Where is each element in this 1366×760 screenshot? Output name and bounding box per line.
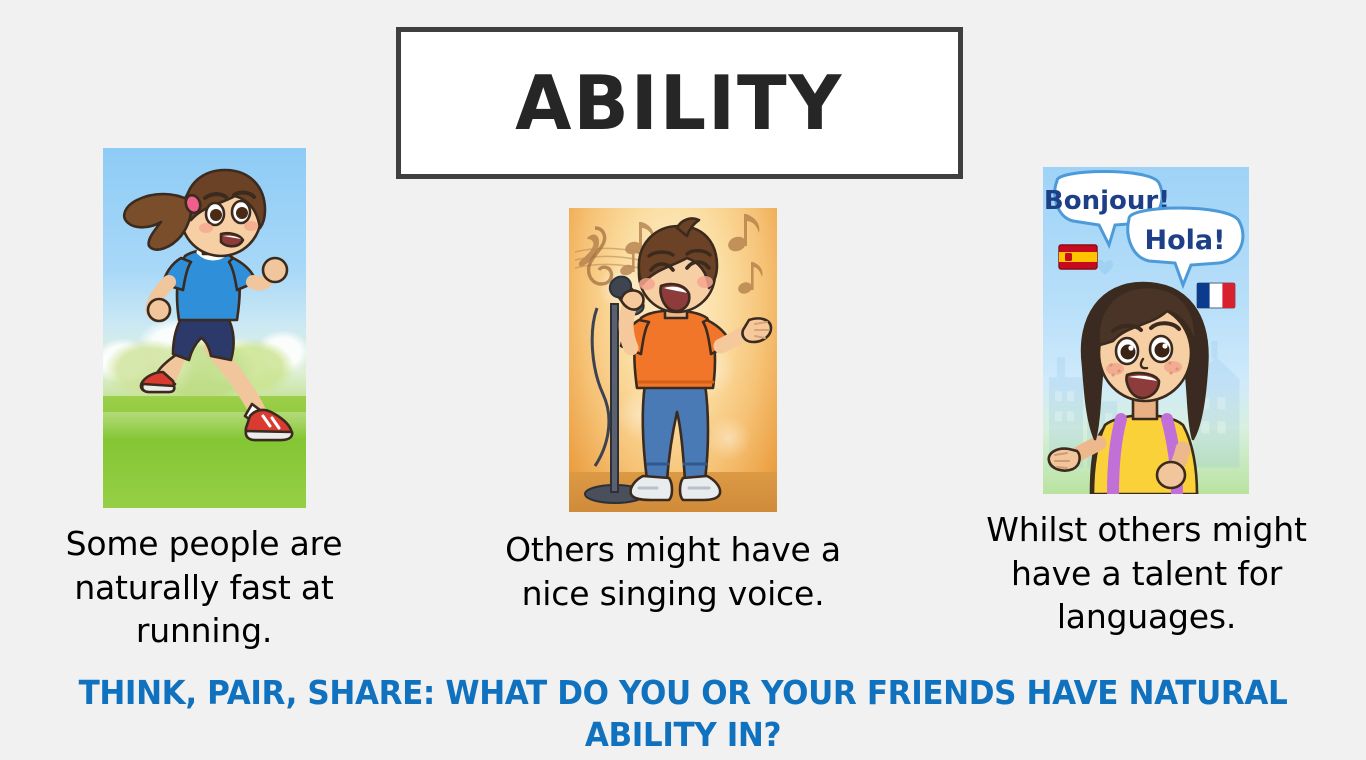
caption-singing: Others might have a nice singing voice. [473,528,873,615]
speech-bubble-hola: Hola! [1128,208,1243,285]
image-wrap-singing [503,208,843,512]
content-column-running: Some people are naturally fast at runnin… [34,148,374,653]
discussion-prompt: THINK, PAIR, SHARE: WHAT DO YOU OR YOUR … [69,672,1297,756]
spain-flag-icon [1059,245,1097,269]
running-girl-figure [103,148,306,508]
singing-boy-figure [569,208,777,512]
content-column-languages: Bonjour! Hola! [976,167,1316,639]
bubble-text-hola: Hola! [1145,225,1226,256]
image-wrap-languages: Bonjour! Hola! [976,167,1316,494]
content-column-singing: Others might have a nice singing voice. [503,208,843,615]
languages-girl-figure: Bonjour! Hola! [1043,167,1249,494]
girl-languages-illustration: Bonjour! Hola! [1043,167,1249,494]
girl-running-illustration [103,148,306,508]
caption-languages: Whilst others might have a talent for la… [974,508,1319,639]
image-wrap-running [34,148,374,508]
france-flag-icon [1197,283,1235,308]
boy-singing-illustration [569,208,777,512]
title-box: ABILITY [396,27,963,179]
caption-running: Some people are naturally fast at runnin… [34,522,374,653]
page-title: ABILITY [515,66,843,141]
